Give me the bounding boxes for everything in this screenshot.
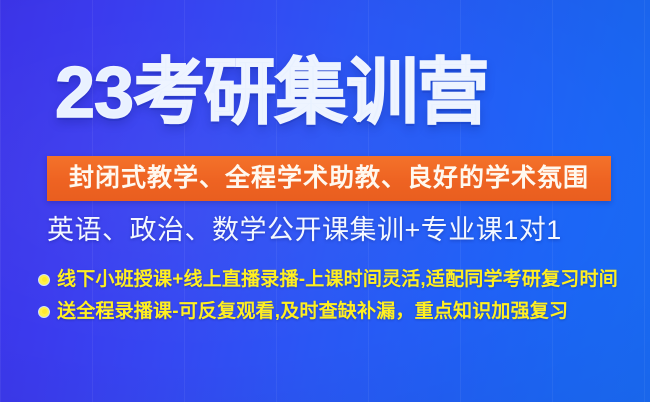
list-item: 线下小班授课+线上直播录播-上课时间灵活,适配同学考研复习时间 bbox=[38, 268, 618, 292]
feature-list: 线下小班授课+线上直播录播-上课时间灵活,适配同学考研复习时间 送全程录播课-可… bbox=[38, 268, 618, 324]
promo-poster: 23考研集训营 封闭式教学、全程学术助教、良好的学术氛围 英语、政治、数学公开课… bbox=[0, 0, 650, 402]
list-item-label: 送全程录播课-可反复观看,及时查缺补漏，重点知识加强复习 bbox=[57, 300, 568, 324]
list-item: 送全程录播课-可反复观看,及时查缺补漏，重点知识加强复习 bbox=[38, 300, 618, 324]
bullet-dot-icon bbox=[38, 306, 50, 318]
subtitle-text: 英语、政治、数学公开课集训+专业课1对1 bbox=[47, 208, 562, 247]
highlight-banner-text: 封闭式教学、全程学术助教、良好的学术氛围 bbox=[69, 166, 589, 191]
list-item-label: 线下小班授课+线上直播录播-上课时间灵活,适配同学考研复习时间 bbox=[57, 268, 618, 292]
bullet-dot-icon bbox=[38, 274, 50, 286]
highlight-banner: 封闭式教学、全程学术助教、良好的学术氛围 bbox=[47, 156, 611, 201]
headline-title: 23考研集训营 bbox=[55, 47, 488, 139]
